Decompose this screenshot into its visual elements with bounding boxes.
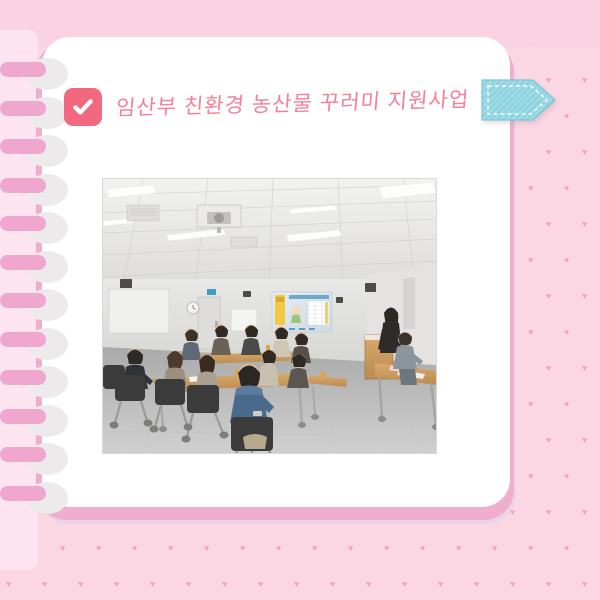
spiral-ring [0, 178, 46, 193]
spiral-ring [0, 332, 46, 347]
heart-dot: ♥ [168, 544, 173, 553]
heart-dot: ♥ [582, 292, 587, 301]
heart-dot: ♥ [456, 544, 461, 553]
heart-dot: ♥ [240, 544, 245, 553]
heart-dot: ♥ [564, 328, 569, 337]
heart-dot: ♥ [294, 580, 299, 589]
heart-dot: ♥ [546, 580, 551, 589]
spiral-ring [0, 216, 46, 231]
heart-dot: ♥ [420, 544, 425, 553]
heart-dot: ♥ [564, 544, 569, 553]
title-row: 임산부 친환경 농산물 꾸러미 지원사업 [64, 88, 468, 126]
heart-dot: ♥ [312, 544, 317, 553]
heart-dot: ♥ [582, 220, 587, 229]
heart-dot: ♥ [150, 580, 155, 589]
spiral-ring [0, 293, 46, 308]
heart-dot: ♥ [564, 400, 569, 409]
heart-dot: ♥ [132, 544, 137, 553]
heart-dot: ♥ [6, 580, 11, 589]
heart-dot: ♥ [564, 256, 569, 265]
heart-dot: ♥ [546, 364, 551, 373]
heart-dot: ♥ [510, 580, 515, 589]
heart-dot: ♥ [348, 544, 353, 553]
spiral-ring [0, 62, 46, 77]
heart-dot: ♥ [546, 292, 551, 301]
heart-dot: ♥ [60, 544, 65, 553]
heart-dot: ♥ [528, 328, 533, 337]
heart-dot: ♥ [564, 184, 569, 193]
heart-dot: ♥ [582, 76, 587, 85]
heart-dot: ♥ [366, 580, 371, 589]
heart-dot: ♥ [186, 580, 191, 589]
heart-dot: ♥ [528, 256, 533, 265]
heart-dot: ♥ [42, 580, 47, 589]
heart-dot: ♥ [582, 580, 587, 589]
activity-photo [103, 179, 436, 453]
heart-dot: ♥ [546, 508, 551, 517]
heart-dot: ♥ [546, 220, 551, 229]
heart-dot: ♥ [96, 544, 101, 553]
heart-dot: ♥ [564, 472, 569, 481]
heart-dot: ♥ [474, 580, 479, 589]
spiral-ring [0, 139, 46, 154]
heart-dot: ♥ [438, 580, 443, 589]
heart-dot: ♥ [276, 544, 281, 553]
heart-dot: ♥ [564, 112, 569, 121]
heart-dot: ♥ [546, 436, 551, 445]
heart-dot: ♥ [528, 400, 533, 409]
heart-dot: ♥ [384, 544, 389, 553]
heart-dot: ♥ [330, 580, 335, 589]
heart-dot: ♥ [582, 508, 587, 517]
heart-dot: ♥ [528, 472, 533, 481]
spiral-ring [0, 447, 46, 462]
spiral-ring [0, 370, 46, 385]
heart-dot: ♥ [546, 148, 551, 157]
spiral-ring [0, 409, 46, 424]
heart-dot: ♥ [492, 544, 497, 553]
heart-dot: ♥ [78, 580, 83, 589]
spiral-ring [0, 255, 46, 270]
heart-dot: ♥ [582, 364, 587, 373]
heart-dot: ♥ [204, 544, 209, 553]
heart-dot: ♥ [582, 436, 587, 445]
bookmark-arrow-tag-icon[interactable] [481, 79, 556, 121]
heart-dot: ♥ [528, 184, 533, 193]
page-title: 임산부 친환경 농산물 꾸러미 지원사업 [115, 83, 471, 122]
heart-dot: ♥ [528, 544, 533, 553]
check-icon [64, 88, 102, 126]
heart-dot: ♥ [582, 148, 587, 157]
spiral-ring [0, 486, 46, 501]
heart-dot: ♥ [222, 580, 227, 589]
heart-dot: ♥ [258, 580, 263, 589]
spiral-ring [0, 101, 46, 116]
heart-dot: ♥ [114, 580, 119, 589]
heart-dot: ♥ [402, 580, 407, 589]
